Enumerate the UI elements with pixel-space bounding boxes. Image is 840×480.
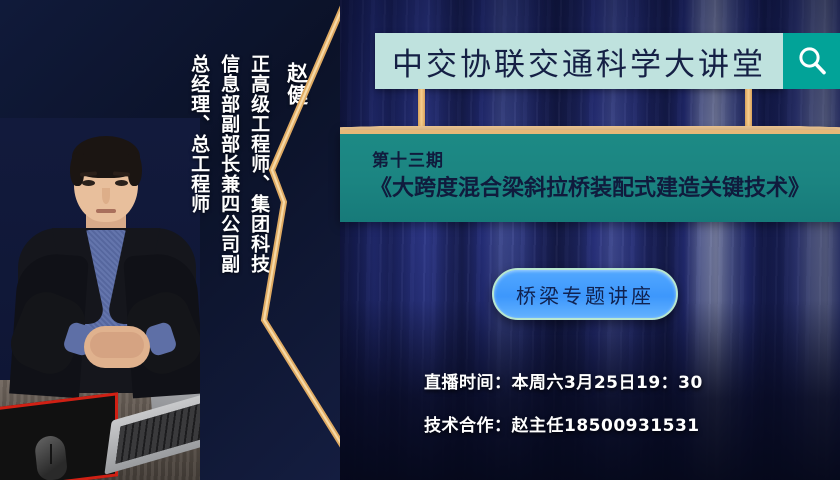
live-stream-poster: 总经理、总工程师 信息部副部长兼四公司副 正高级工程师、集团科技 赵健 中交协联… <box>0 0 840 480</box>
speaker-title-line-3: 总经理、总工程师 <box>188 54 208 214</box>
nose <box>102 188 110 204</box>
eye-right <box>115 180 128 186</box>
episode-topic: 《大跨度混合梁斜拉桥装配式建造关键技术》 <box>340 170 840 202</box>
episode-number: 第十三期 <box>372 146 444 171</box>
speaker-name: 赵健 <box>284 62 307 106</box>
eye-left <box>82 180 95 186</box>
mouse-seam <box>50 444 52 464</box>
speaker-panel: 总经理、总工程师 信息部副部长兼四公司副 正高级工程师、集团科技 赵健 <box>0 0 340 480</box>
speaker-photo <box>0 118 200 480</box>
hair-right <box>128 152 142 186</box>
speaker-title-line-2: 信息部副部长兼四公司副 <box>218 54 238 274</box>
episode-band: 第十三期 《大跨度混合梁斜拉桥装配式建造关键技术》 <box>340 130 840 222</box>
program-title-sign: 中交协联交通科学大讲堂 <box>375 33 840 89</box>
broadcast-time-text: 直播时间：本周六3月25日19：30 <box>424 368 703 393</box>
topic-category-button[interactable]: 桥梁专题讲座 <box>492 268 678 320</box>
mouth <box>96 209 116 213</box>
hands-shadow <box>90 332 144 358</box>
program-title-text: 中交协联交通科学大讲堂 <box>392 39 766 84</box>
speaker-title-line-1: 正高级工程师、集团科技 <box>248 54 268 274</box>
search-icon[interactable] <box>783 33 840 89</box>
topic-category-label: 桥梁专题讲座 <box>516 280 654 309</box>
program-title-banner: 中交协联交通科学大讲堂 <box>375 33 783 89</box>
contact-text: 技术合作：赵主任18500931531 <box>424 411 700 436</box>
